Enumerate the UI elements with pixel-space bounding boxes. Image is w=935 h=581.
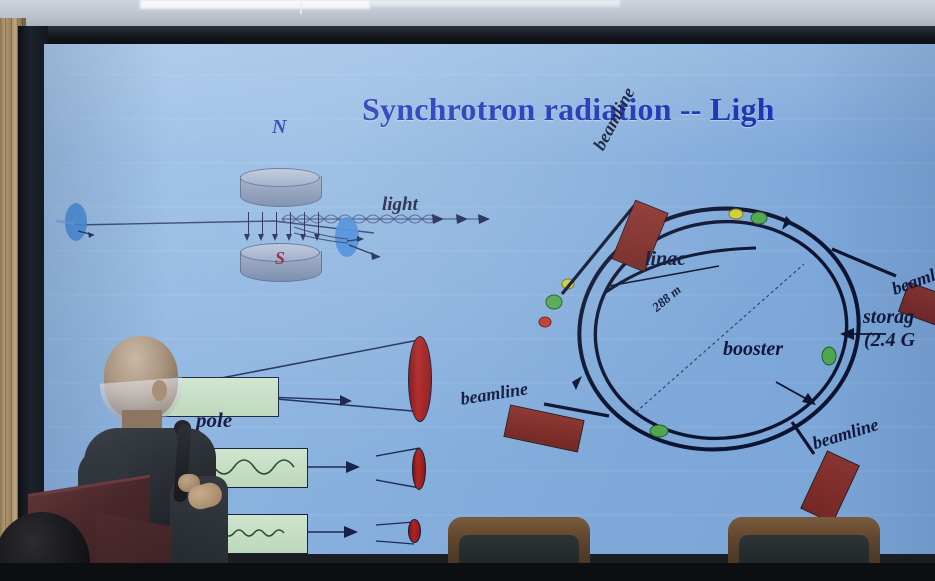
marker-yellow-top	[729, 209, 743, 219]
storage-ring-outer	[564, 191, 875, 468]
screen-bezel-top	[18, 26, 935, 46]
wiggler-beam-spot	[412, 448, 426, 490]
marker-green-top	[751, 212, 767, 224]
linac-label: linac	[645, 248, 686, 271]
north-pole-label: N	[272, 116, 286, 139]
ceiling-light-strip-2	[370, 0, 620, 7]
presenter-ear	[152, 380, 167, 401]
wiggler-cone	[302, 442, 502, 502]
marker-green-left	[546, 295, 562, 309]
storage-ring-label: storag	[863, 306, 914, 329]
light-label: light	[382, 194, 418, 216]
marker-red-left	[539, 317, 551, 327]
ceiling-seam	[300, 2, 302, 14]
south-pole-label: S	[275, 248, 285, 269]
marker-green-right	[822, 347, 836, 365]
dipole-beam-spot	[408, 336, 432, 422]
ceiling-light-strip	[140, 0, 370, 9]
booster-label: booster	[723, 338, 783, 361]
storage-ring-energy-label: (2.4 G	[864, 329, 915, 352]
lecture-photo: Synchrotron radiation -- Ligh	[0, 0, 935, 581]
foreground-shadow-bar	[0, 563, 935, 581]
electron-bunch-right	[335, 217, 359, 257]
undulator-beam-spot	[408, 519, 421, 543]
slide-title: Synchrotron radiation -- Ligh	[362, 91, 775, 128]
beamline-line-r	[832, 249, 896, 276]
magnet-pole-north	[240, 167, 320, 211]
marker-green-bottom	[650, 425, 668, 437]
